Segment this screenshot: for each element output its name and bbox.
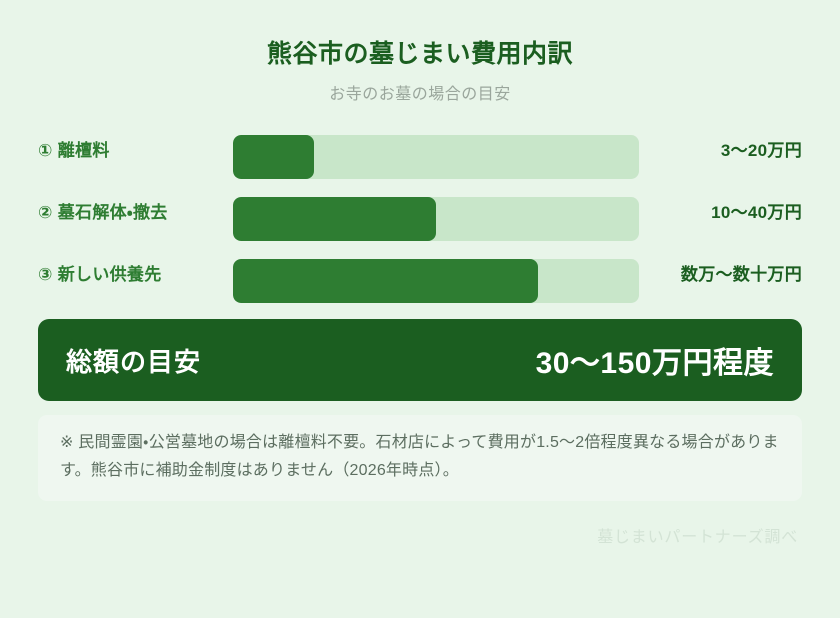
- footnote-text: ※ 民間霊園・公営墓地の場合は離檀料不要。石材店によって費用が1.5〜2倍程度異…: [60, 429, 780, 485]
- cost-bar-track: [233, 197, 639, 241]
- header: 熊谷市の墓じまい費用内訳 お寺のお墓の場合の目安: [38, 38, 802, 105]
- page-title: 熊谷市の墓じまい費用内訳: [38, 38, 802, 71]
- cost-bar-track: [233, 259, 639, 303]
- page-subtitle: お寺のお墓の場合の目安: [38, 85, 802, 106]
- cost-bar-track: [233, 135, 639, 179]
- total-banner: 総額の目安 30〜150万円程度: [38, 319, 802, 401]
- cost-breakdown-list: ① 離檀料 3〜20万円 ② 墓石解体・撤去 10〜40万円 ③ 新しい供養先 …: [38, 131, 802, 303]
- cost-row-label: ① 離檀料: [38, 131, 233, 164]
- cost-row-value: 数万〜数十万円: [639, 255, 802, 288]
- infographic-card: 熊谷市の墓じまい費用内訳 お寺のお墓の場合の目安 ① 離檀料 3〜20万円 ② …: [0, 0, 840, 618]
- cost-bar-fill: [233, 197, 436, 241]
- cost-row-value: 3〜20万円: [639, 131, 802, 164]
- cost-row: ② 墓石解体・撤去 10〜40万円: [38, 193, 802, 241]
- cost-row-label: ③ 新しい供養先: [38, 255, 233, 288]
- cost-row-value: 10〜40万円: [639, 193, 802, 226]
- cost-row-label: ② 墓石解体・撤去: [38, 193, 233, 226]
- cost-bar-fill: [233, 259, 538, 303]
- source-credit: 墓じまいパートナーズ調べ: [597, 529, 798, 546]
- total-value: 30〜150万円程度: [536, 338, 774, 382]
- cost-row: ③ 新しい供養先 数万〜数十万円: [38, 255, 802, 303]
- footer: 墓じまいパートナーズ調べ: [38, 523, 802, 547]
- cost-bar-fill: [233, 135, 314, 179]
- cost-row: ① 離檀料 3〜20万円: [38, 131, 802, 179]
- footnote-box: ※ 民間霊園・公営墓地の場合は離檀料不要。石材店によって費用が1.5〜2倍程度異…: [38, 415, 802, 501]
- total-label: 総額の目安: [66, 342, 201, 379]
